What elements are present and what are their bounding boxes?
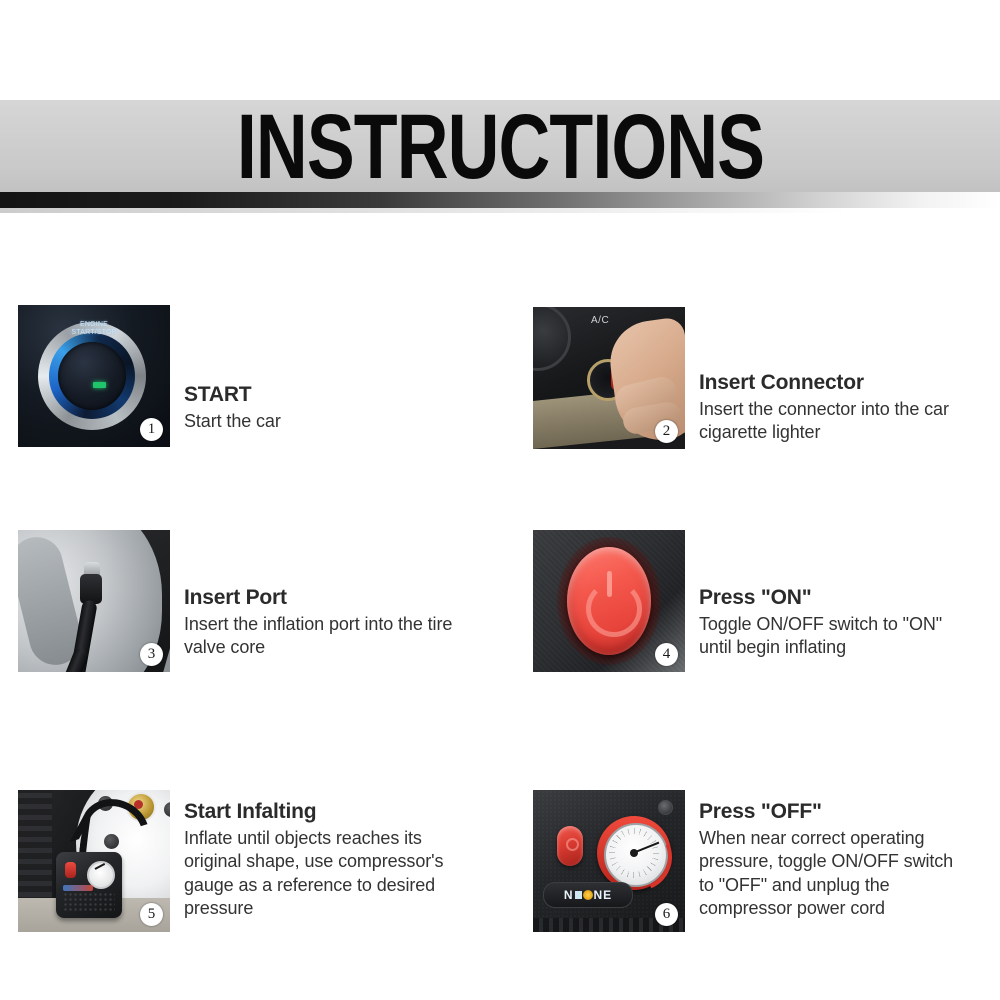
step-6-image: NNE 6: [533, 790, 685, 932]
step-number-badge: 4: [655, 643, 678, 666]
step-6-text: Press "OFF" When near correct operating …: [685, 790, 967, 920]
engine-label-line2: START/STOP: [71, 329, 116, 336]
step-3-image: 3: [18, 530, 170, 672]
step-1-image: ENGINE START/STOP 1: [18, 305, 170, 447]
step-number-badge: 5: [140, 903, 163, 926]
step-number-badge: 1: [140, 418, 163, 441]
compressor-unit: [56, 852, 122, 918]
brand-logo-suffix: NE: [594, 888, 613, 902]
step-2-image: A/C 2: [533, 307, 685, 449]
step-2-title: Insert Connector: [699, 371, 961, 396]
engine-label-line1: ENGINE: [80, 321, 108, 328]
instructions-banner: INSTRUCTIONS: [0, 100, 1000, 192]
step-3-body: Insert the inflation port into the tire …: [184, 613, 464, 660]
step-4-image: 4: [533, 530, 685, 672]
step-6-title: Press "OFF": [699, 800, 967, 825]
step-1-text: START Start the car: [170, 305, 281, 433]
step-1-title: START: [184, 383, 281, 408]
step-5-image: 5: [18, 790, 170, 932]
brand-logo-square: [575, 891, 582, 899]
step-5-text: Start Infalting Inflate until objects re…: [170, 790, 464, 920]
step-6-body: When near correct operating pressure, to…: [699, 827, 967, 921]
brand-logo: NNE: [543, 882, 633, 908]
instruction-step-3: 3 Insert Port Insert the inflation port …: [18, 530, 488, 672]
page-title: INSTRUCTIONS: [236, 100, 763, 192]
step-3-title: Insert Port: [184, 586, 464, 611]
instruction-step-4: 4 Press "ON" Toggle ON/OFF switch to "ON…: [533, 530, 993, 672]
instruction-steps-grid: ENGINE START/STOP 1 START Start the car …: [0, 228, 1000, 973]
instruction-step-6: NNE 6 Press "OFF" When near correct oper…: [533, 790, 993, 932]
step-5-body: Inflate until objects reaches its origin…: [184, 827, 464, 921]
step-2-text: Insert Connector Insert the connector in…: [685, 307, 961, 445]
step-3-text: Insert Port Insert the inflation port in…: [170, 530, 464, 660]
screw-icon: [658, 800, 673, 815]
brand-logo-circle: [583, 890, 593, 900]
ac-label: A/C: [591, 315, 609, 326]
green-led-indicator: [93, 382, 106, 388]
step-4-text: Press "ON" Toggle ON/OFF switch to "ON" …: [685, 530, 957, 660]
step-4-title: Press "ON": [699, 586, 957, 611]
banner-gradient-divider: [0, 192, 1000, 208]
step-1-body: Start the car: [184, 410, 281, 433]
instruction-step-2: A/C 2 Insert Connector Insert the connec…: [533, 307, 993, 449]
step-number-badge: 6: [655, 903, 678, 926]
instruction-step-1: ENGINE START/STOP 1 START Start the car: [18, 305, 478, 447]
instruction-step-5: 5 Start Infalting Inflate until objects …: [18, 790, 498, 932]
step-2-body: Insert the connector into the car cigare…: [699, 398, 961, 445]
step-5-title: Start Infalting: [184, 800, 464, 825]
step-number-badge: 2: [655, 420, 678, 443]
banner-divider-shadow: [0, 208, 1000, 213]
step-number-badge: 3: [140, 643, 163, 666]
step-4-body: Toggle ON/OFF switch to "ON" until begin…: [699, 613, 957, 660]
power-symbol-icon: [586, 581, 642, 637]
brand-logo-prefix: N: [564, 888, 574, 902]
